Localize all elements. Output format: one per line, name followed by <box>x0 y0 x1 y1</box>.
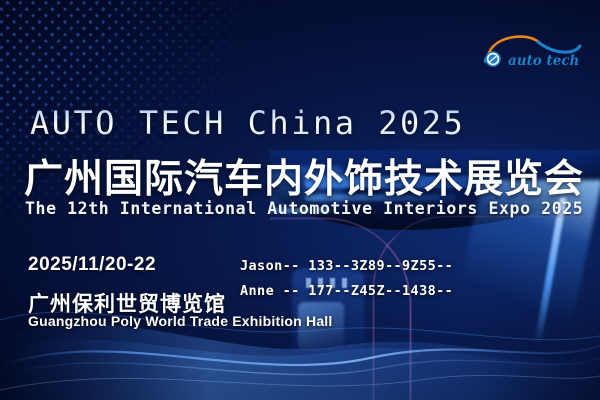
poster-banner: auto tech AUTO TECH China 2025 广州国际汽车内外饰… <box>0 0 600 400</box>
page-subtitle-english: The 12th International Automotive Interi… <box>25 199 583 218</box>
venue-name-english: Guangzhou Poly World Trade Exhibition Ha… <box>28 313 333 329</box>
event-date: 2025/11/20-22 <box>28 254 156 276</box>
contact-anne: Anne -- 177--Z45Z--1438-- <box>240 283 453 299</box>
page-title-chinese: 广州国际汽车内外饰技术展览会 <box>24 148 584 204</box>
contact-jason: Jason-- 133--3Z89--9Z55-- <box>240 258 453 274</box>
page-title-english: AUTO TECH China 2025 <box>30 104 465 142</box>
poster-content: AUTO TECH China 2025 广州国际汽车内外饰技术展览会 The … <box>0 0 600 400</box>
